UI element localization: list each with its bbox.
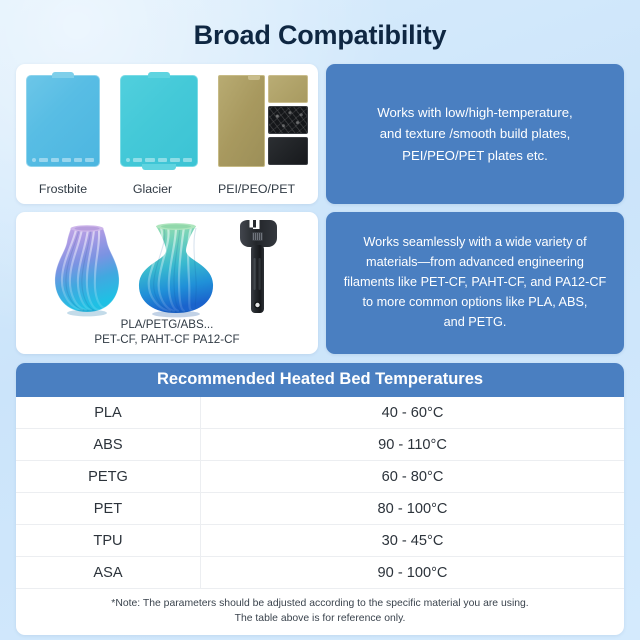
temperature-cell: 90 - 100°C — [201, 557, 625, 589]
material-cell: PET — [16, 493, 201, 525]
temperature-cell: 80 - 100°C — [201, 493, 625, 525]
plate-tab-icon — [148, 72, 170, 78]
material-cell: PLA — [16, 397, 201, 429]
table-note: *Note: The parameters should be adjusted… — [16, 589, 624, 635]
description-line: PEI/PEO/PET plates etc. — [377, 145, 572, 166]
table-row: TPU 30 - 45°C — [16, 525, 624, 557]
plate-label-glacier: Glacier — [133, 182, 172, 196]
temperature-cell: 30 - 45°C — [201, 525, 625, 557]
plate-markings-icon — [126, 157, 192, 162]
material-cell: PETG — [16, 461, 201, 493]
pei-gold-swatch — [268, 75, 308, 103]
description-line: Works with low/high-temperature, — [377, 102, 572, 123]
plate-pei-peo-pet — [218, 75, 308, 167]
table-row: PET 80 - 100°C — [16, 493, 624, 525]
material-cell: ASA — [16, 557, 201, 589]
description-line: Works seamlessly with a wide variety of — [344, 233, 607, 253]
build-plates-image-card: Frostbite Glacier PEI/PEO/PET — [16, 64, 318, 204]
plate-markings-icon — [32, 157, 94, 162]
description-line: and PETG. — [344, 313, 607, 333]
material-cell: TPU — [16, 525, 201, 557]
build-plate-icon — [218, 75, 265, 167]
build-plates-group — [16, 75, 318, 173]
table-row: PLA 40 - 60°C — [16, 397, 624, 429]
temperature-cell: 90 - 110°C — [201, 429, 625, 461]
materials-caption: PLA/PETG/ABS... PET-CF, PAHT-CF PA12-CF — [16, 318, 318, 348]
materials-section: PLA/PETG/ABS... PET-CF, PAHT-CF PA12-CF … — [16, 212, 624, 354]
table-row: PETG 60 - 80°C — [16, 461, 624, 493]
page-title: Broad Compatibility — [0, 20, 640, 51]
gradient-vase-green-blue — [134, 220, 218, 320]
note-line: *Note: The parameters should be adjusted… — [26, 596, 614, 611]
note-line: The table above is for reference only. — [26, 611, 614, 626]
pei-plate-group — [218, 75, 308, 167]
build-plate-icon — [26, 75, 100, 167]
table-row: ABS 90 - 110°C — [16, 429, 624, 461]
pei-swatch-stack — [268, 75, 308, 165]
build-plate-icon — [120, 75, 198, 167]
plate-tab-bottom-icon — [142, 164, 176, 170]
plate-frostbite — [26, 75, 100, 167]
materials-description-text: Works seamlessly with a wide variety of … — [344, 233, 607, 332]
description-line: and texture /smooth build plates, — [377, 123, 572, 144]
plate-label-pei-peo-pet: PEI/PEO/PET — [218, 182, 295, 196]
pei-textured-swatch — [268, 106, 308, 134]
materials-group — [16, 218, 318, 320]
build-plates-section: Frostbite Glacier PEI/PEO/PET Works with… — [16, 64, 624, 204]
plate-label-frostbite: Frostbite — [39, 182, 87, 196]
pei-smooth-black-swatch — [268, 137, 308, 165]
plate-glacier — [120, 75, 198, 167]
description-line: materials—from advanced engineering — [344, 253, 607, 273]
gradient-vase-purple-blue — [48, 220, 126, 320]
build-plates-description-text: Works with low/high-temperature, and tex… — [377, 102, 572, 166]
build-plates-description-card: Works with low/high-temperature, and tex… — [326, 64, 624, 204]
adjustable-wrench — [226, 218, 286, 320]
temperature-cell: 40 - 60°C — [201, 397, 625, 429]
temperature-table: PLA 40 - 60°C ABS 90 - 110°C PETG 60 - 8… — [16, 397, 624, 589]
description-line: to more common options like PLA, ABS, — [344, 293, 607, 313]
caption-line: PET-CF, PAHT-CF PA12-CF — [16, 333, 318, 348]
table-header: Recommended Heated Bed Temperatures — [16, 363, 624, 397]
caption-line: PLA/PETG/ABS... — [16, 318, 318, 333]
temperature-table-card: Recommended Heated Bed Temperatures PLA … — [16, 363, 624, 635]
build-plate-labels: Frostbite Glacier PEI/PEO/PET — [16, 182, 318, 196]
table-row: ASA 90 - 100°C — [16, 557, 624, 589]
temperature-cell: 60 - 80°C — [201, 461, 625, 493]
materials-description-card: Works seamlessly with a wide variety of … — [326, 212, 624, 354]
description-line: filaments like PET-CF, PAHT-CF, and PA12… — [344, 273, 607, 293]
materials-image-card: PLA/PETG/ABS... PET-CF, PAHT-CF PA12-CF — [16, 212, 318, 354]
broad-compatibility-page: Broad Compatibility — [0, 0, 640, 640]
plate-tab-icon — [52, 72, 74, 78]
material-cell: ABS — [16, 429, 201, 461]
